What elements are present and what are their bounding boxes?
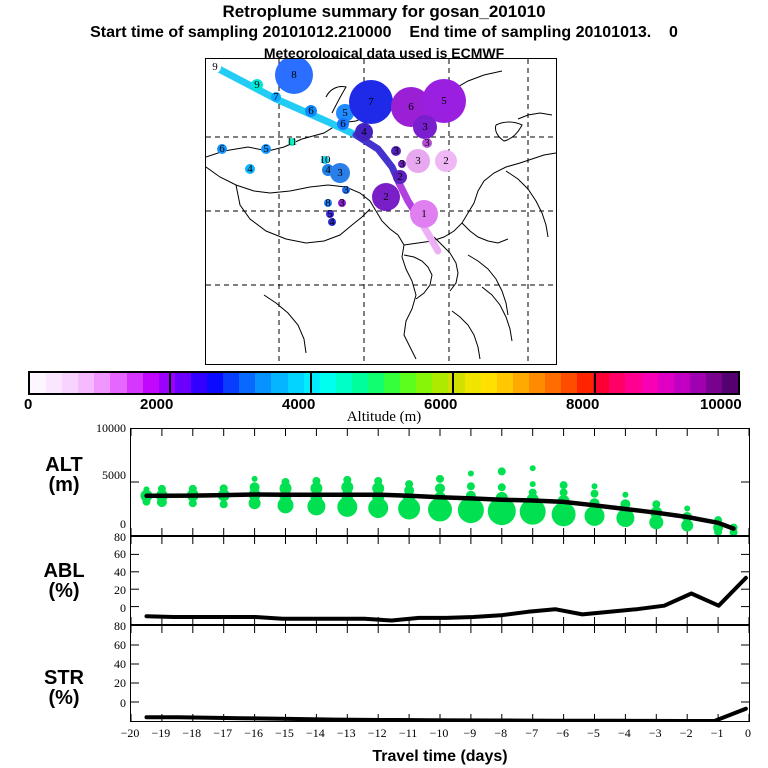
alt-bubble-14-3 bbox=[552, 502, 576, 526]
map-marker-label-23: 2 bbox=[443, 155, 449, 167]
alt-bubble-18-0 bbox=[684, 506, 690, 512]
colorbar-cell-42 bbox=[706, 373, 722, 393]
colorbar-cell-27 bbox=[465, 373, 481, 393]
str-chart[interactable] bbox=[130, 625, 750, 722]
alt-bubble-4-0 bbox=[252, 476, 258, 482]
map-marker-label-8: 6 bbox=[408, 101, 414, 113]
colorbar-cell-1 bbox=[46, 373, 62, 393]
map-marker-label-6: 6 bbox=[340, 118, 346, 130]
alt-bubble-1-2 bbox=[157, 497, 167, 507]
colorbar-cell-0 bbox=[30, 373, 46, 393]
alt-bubble-11-0 bbox=[468, 471, 474, 477]
alt-bubble-9-3 bbox=[398, 498, 420, 520]
alt-bubble-3-2 bbox=[220, 500, 228, 508]
alt-bubble-8-3 bbox=[368, 498, 388, 518]
alt-bubble-12-1 bbox=[498, 483, 506, 491]
colorbar-cell-15 bbox=[271, 373, 287, 393]
map-marker-label-20: 3 bbox=[393, 145, 399, 157]
alt-bubble-15-0 bbox=[592, 483, 598, 489]
alt-bubble-12-0 bbox=[498, 467, 506, 475]
xaxis-title: Travel time (days) bbox=[130, 748, 750, 766]
map-marker-label-14: 6 bbox=[219, 143, 225, 155]
abl-ytick-40: 40 bbox=[114, 565, 126, 580]
colorbar-cell-41 bbox=[690, 373, 706, 393]
alt-bubble-16-0 bbox=[622, 492, 628, 498]
map-marker-label-9: 5 bbox=[441, 95, 447, 107]
alt-ytick-5000: 5000 bbox=[102, 468, 126, 483]
map-marker-label-30: 4 bbox=[329, 216, 335, 228]
xtick-label-3: −17 bbox=[207, 726, 239, 741]
map-marker-label-0: 9 bbox=[212, 61, 218, 73]
str-ytick-60: 60 bbox=[114, 638, 126, 653]
colorbar-sep-8000 bbox=[594, 371, 596, 395]
xtick-label-1: −19 bbox=[145, 726, 177, 741]
alt-chart[interactable] bbox=[130, 428, 750, 536]
abl-ytick-80: 80 bbox=[114, 530, 126, 545]
xtick-label-6: −14 bbox=[299, 726, 331, 741]
colorbar-cell-14 bbox=[255, 373, 271, 393]
xtick-label-0: −20 bbox=[114, 726, 146, 741]
colorbar-cell-43 bbox=[722, 373, 738, 393]
alt-chart-graphics bbox=[131, 429, 749, 535]
alt-bubble-15-1 bbox=[591, 490, 599, 498]
alt-ytick-10000: 10000 bbox=[96, 421, 126, 436]
str-ytick-marks bbox=[131, 645, 749, 702]
colorbar-cell-21 bbox=[368, 373, 384, 393]
sampling-time-line: Start time of sampling 20101012.210000 E… bbox=[0, 24, 768, 42]
alt-bubble-11-1 bbox=[467, 482, 475, 490]
colorbar-cell-26 bbox=[448, 373, 464, 393]
colorbar-cell-7 bbox=[143, 373, 159, 393]
str-ytick-40: 40 bbox=[114, 657, 126, 672]
xtick-label-7: −13 bbox=[330, 726, 362, 741]
map-marker-label-13: 11 bbox=[287, 136, 298, 148]
colorbar-cell-5 bbox=[110, 373, 126, 393]
colorbar-cell-23 bbox=[400, 373, 416, 393]
colorbar-cell-18 bbox=[320, 373, 336, 393]
map-marker-label-7: 7 bbox=[368, 96, 374, 108]
xtick-label-9: −11 bbox=[392, 726, 424, 741]
retroplume-map[interactable]: 9897656765433116541043333222383541 bbox=[205, 58, 557, 365]
abl-ytick-60: 60 bbox=[114, 547, 126, 562]
abl-ytick-0: 0 bbox=[120, 601, 126, 616]
map-marker-label-19: 3 bbox=[337, 167, 343, 179]
colorbar-cell-8 bbox=[159, 373, 175, 393]
alt-ytick-column: 10000 5000 0 bbox=[60, 421, 126, 531]
alt-bubble-0-2 bbox=[142, 498, 150, 506]
colorbar-cell-9 bbox=[175, 373, 191, 393]
colorbar-cell-33 bbox=[561, 373, 577, 393]
colorbar-cell-34 bbox=[577, 373, 593, 393]
colorbar-cell-16 bbox=[288, 373, 304, 393]
str-chart-graphics bbox=[131, 626, 749, 721]
colorbar-cell-32 bbox=[545, 373, 561, 393]
alt-bubble-13-1 bbox=[530, 481, 536, 487]
colorbar-cell-24 bbox=[416, 373, 432, 393]
alt-bubble-13-0 bbox=[530, 465, 536, 471]
str-ytick-20: 20 bbox=[114, 676, 126, 691]
colorbar-cell-31 bbox=[529, 373, 545, 393]
alt-bubble-14-0 bbox=[560, 481, 568, 489]
map-marker-label-1: 8 bbox=[291, 69, 297, 81]
retroplume-summary-page: Retroplume summary for gosan_201010 Star… bbox=[0, 0, 768, 768]
alt-bubble-7-3 bbox=[337, 497, 357, 517]
xtick-label-14: −6 bbox=[547, 726, 579, 741]
abl-series-line bbox=[147, 578, 746, 621]
map-marker-label-10: 4 bbox=[361, 126, 367, 138]
colorbar-cell-28 bbox=[481, 373, 497, 393]
map-marker-label-16: 4 bbox=[247, 163, 253, 175]
map-marker-label-24: 2 bbox=[397, 171, 403, 183]
colorbar-cell-30 bbox=[513, 373, 529, 393]
colorbar-cell-12 bbox=[223, 373, 239, 393]
colorbar-cell-11 bbox=[207, 373, 223, 393]
xtick-label-5: −15 bbox=[269, 726, 301, 741]
colorbar-cell-13 bbox=[239, 373, 255, 393]
map-marker-label-21: 3 bbox=[399, 158, 405, 170]
map-marker-label-15: 5 bbox=[263, 143, 269, 155]
alt-bubble-6-3 bbox=[307, 497, 325, 515]
map-marker-label-3: 7 bbox=[273, 91, 279, 103]
xtick-label-4: −16 bbox=[238, 726, 270, 741]
abl-xtick-marks bbox=[131, 537, 749, 624]
colorbar-sep-2000 bbox=[169, 371, 171, 395]
colorbar-cell-40 bbox=[674, 373, 690, 393]
colorbar-cell-6 bbox=[127, 373, 143, 393]
xtick-label-19: −1 bbox=[701, 726, 733, 741]
colorbar-cell-25 bbox=[432, 373, 448, 393]
page-title: Retroplume summary for gosan_201010 bbox=[0, 2, 768, 22]
xtick-label-16: −4 bbox=[608, 726, 640, 741]
colorbar-cell-19 bbox=[336, 373, 352, 393]
str-ytick-column: 80 60 40 20 0 bbox=[60, 619, 126, 719]
xtick-label-15: −5 bbox=[578, 726, 610, 741]
colorbar-cell-2 bbox=[62, 373, 78, 393]
colorbar-sep-6000 bbox=[452, 371, 454, 395]
colorbar-cell-36 bbox=[609, 373, 625, 393]
map-marker-label-12: 3 bbox=[424, 137, 430, 149]
xtick-label-10: −10 bbox=[423, 726, 455, 741]
colorbar-sep-4000 bbox=[310, 371, 312, 395]
alt-bubble-10-1 bbox=[435, 483, 445, 493]
str-ytick-80: 80 bbox=[114, 619, 126, 634]
map-marker-label-28: 3 bbox=[339, 197, 345, 209]
abl-chart-graphics bbox=[131, 537, 749, 624]
abl-ytick-marks bbox=[131, 554, 749, 606]
map-graphics: 9897656765433116541043333222383541 bbox=[206, 59, 556, 364]
xtick-label-18: −2 bbox=[670, 726, 702, 741]
map-marker-label-25: 2 bbox=[383, 191, 389, 203]
alt-bubble-18-2 bbox=[681, 519, 693, 531]
xtick-label-8: −12 bbox=[361, 726, 393, 741]
colorbar-cell-38 bbox=[642, 373, 658, 393]
map-marker-label-4: 6 bbox=[308, 105, 314, 117]
colorbar-cell-3 bbox=[78, 373, 94, 393]
colorbar-cell-22 bbox=[384, 373, 400, 393]
xtick-label-20: 0 bbox=[732, 726, 764, 741]
colorbar-cell-20 bbox=[352, 373, 368, 393]
str-xtick-marks bbox=[131, 626, 749, 721]
alt-bubble-4-3 bbox=[249, 497, 261, 509]
alt-bubble-17-2 bbox=[649, 515, 663, 529]
colorbar-cell-39 bbox=[658, 373, 674, 393]
str-ytick-0: 0 bbox=[120, 696, 126, 711]
map-marker-label-26: 3 bbox=[343, 184, 349, 196]
map-marker-label-31: 1 bbox=[421, 208, 427, 220]
abl-ytick-20: 20 bbox=[114, 583, 126, 598]
xtick-label-12: −8 bbox=[485, 726, 517, 741]
alt-bubble-5-3 bbox=[278, 497, 294, 513]
alt-bubble-2-2 bbox=[189, 499, 197, 507]
colorbar-cell-4 bbox=[94, 373, 110, 393]
map-marker-label-11: 3 bbox=[422, 121, 428, 133]
alt-bubble-10-0 bbox=[436, 475, 444, 483]
map-marker-label-2: 9 bbox=[254, 79, 260, 91]
xtick-label-2: −18 bbox=[176, 726, 208, 741]
abl-ytick-column: 80 60 40 20 0 bbox=[60, 530, 126, 622]
altitude-colorbar[interactable] bbox=[28, 371, 740, 395]
abl-chart[interactable] bbox=[130, 536, 750, 625]
colorbar-cell-10 bbox=[191, 373, 207, 393]
xtick-label-17: −3 bbox=[639, 726, 671, 741]
colorbar-cell-37 bbox=[625, 373, 641, 393]
map-marker-label-22: 3 bbox=[415, 155, 421, 167]
alt-bubble-group bbox=[140, 465, 737, 535]
alt-bubble-10-3 bbox=[428, 498, 452, 522]
xtick-label-11: −9 bbox=[454, 726, 486, 741]
alt-bubble-15-3 bbox=[585, 506, 605, 526]
xtick-label-13: −7 bbox=[516, 726, 548, 741]
colorbar-cell-29 bbox=[497, 373, 513, 393]
